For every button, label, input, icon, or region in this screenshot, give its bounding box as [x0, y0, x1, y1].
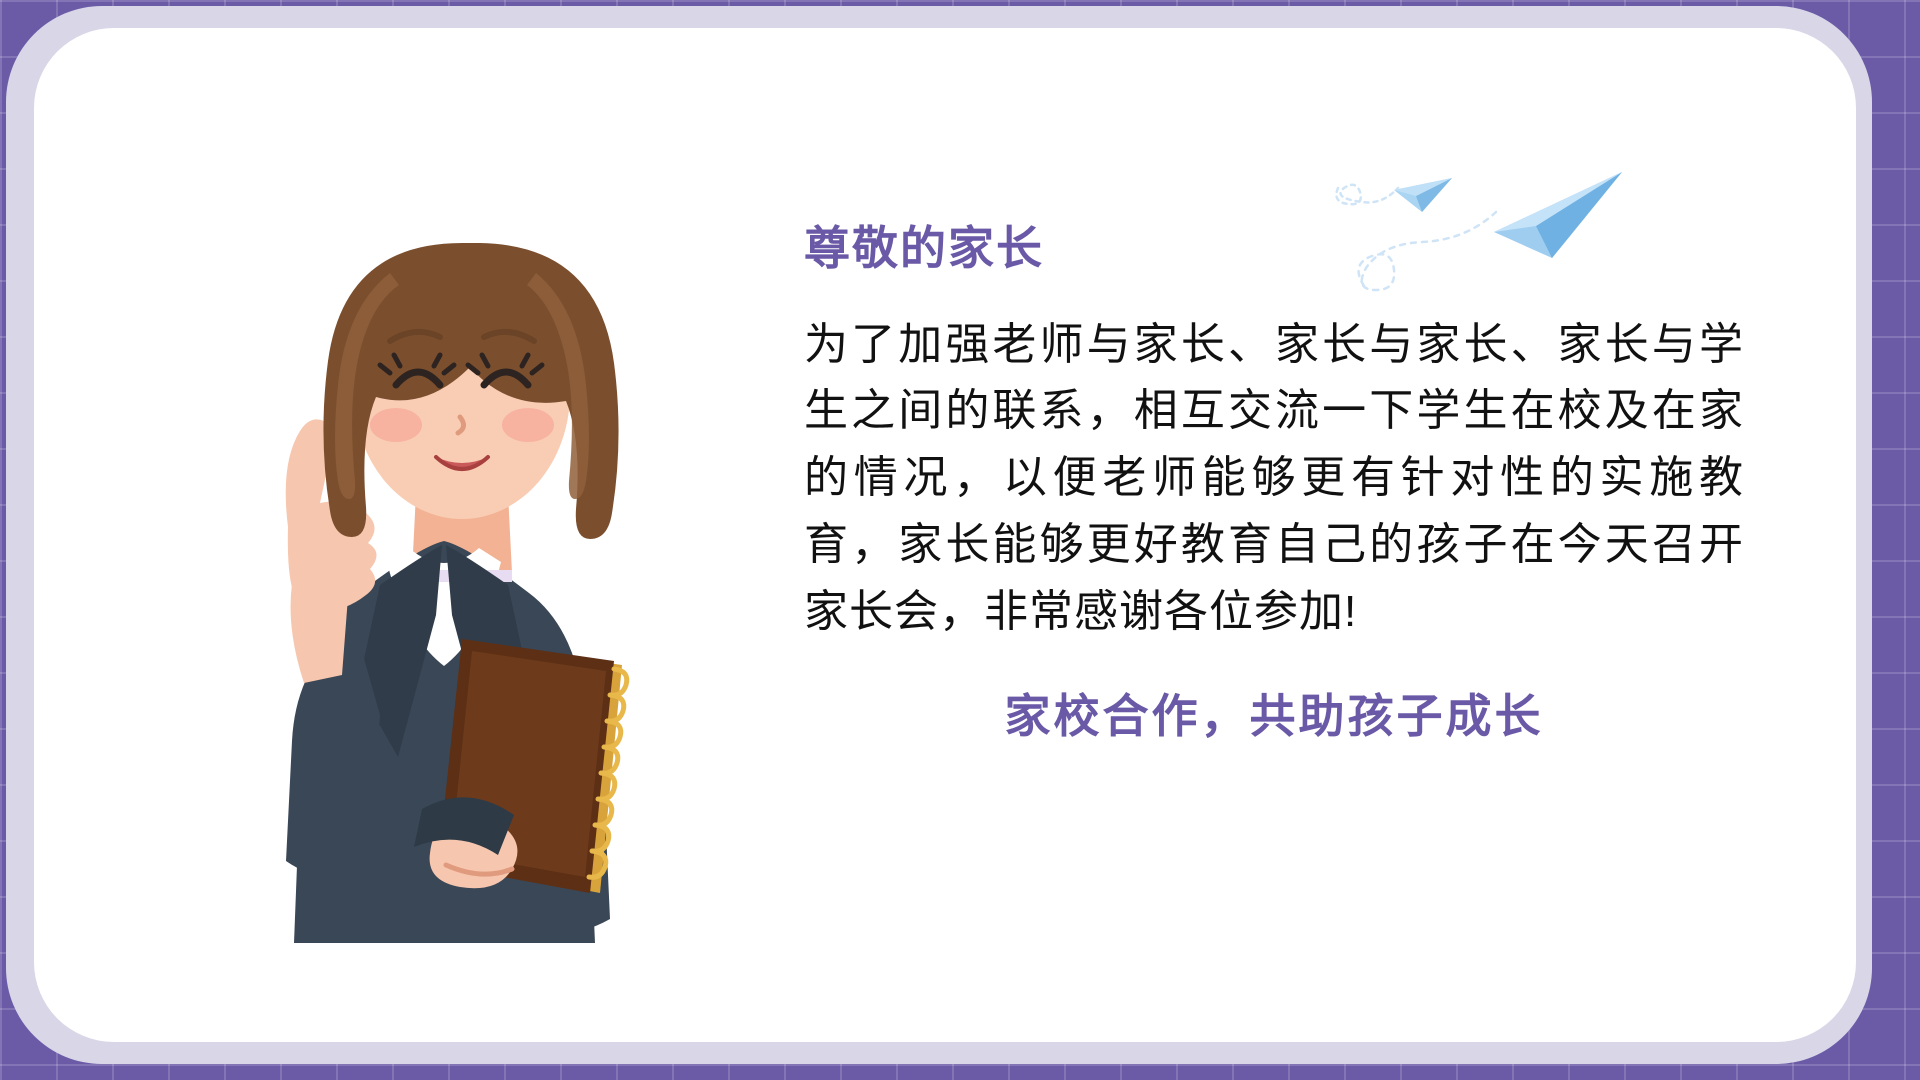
text-column: 尊敬的家长 为了加强老师与家长、家长与家长、家长与学生之间的联系，相互交流一下学…: [804, 223, 1784, 746]
paper-plane-icon: [1394, 178, 1452, 212]
slide-root: 尊敬的家长 为了加强老师与家长、家长与家长、家长与学生之间的联系，相互交流一下学…: [0, 0, 1920, 1080]
slogan-text: 家校合作，共助孩子成长: [804, 680, 1784, 746]
section-heading: 尊敬的家长: [804, 223, 1784, 274]
teacher-holding-book-illustration: [184, 123, 704, 943]
body-paragraph: 为了加强老师与家长、家长与家长、家长与学生之间的联系，相互交流一下学生在校及在家…: [804, 312, 1744, 646]
content-card: 尊敬的家长 为了加强老师与家长、家长与家长、家长与学生之间的联系，相互交流一下学…: [34, 28, 1856, 1042]
